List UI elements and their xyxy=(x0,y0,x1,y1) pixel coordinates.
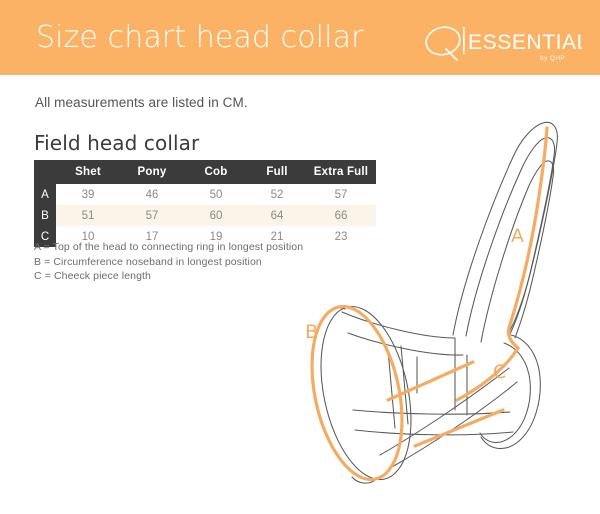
halter-outline xyxy=(298,122,558,487)
dimension-label-a: A xyxy=(511,225,524,247)
column-header-cob: Cob xyxy=(184,160,248,184)
cell-b-cob: 60 xyxy=(184,205,248,226)
column-header-shet: Shet xyxy=(56,160,120,184)
column-header-pony: Pony xyxy=(120,160,184,184)
page-title: Size chart head collar xyxy=(36,20,364,55)
cell-a-shet: 39 xyxy=(56,184,120,205)
footnote-a: A = Top of the head to connecting ring i… xyxy=(34,240,303,255)
row-label-b: B xyxy=(34,205,56,226)
header-banner: Size chart head collar ESSENTIALS by QHP xyxy=(0,0,600,75)
cell-b-shet: 51 xyxy=(56,205,120,226)
table-corner-cell xyxy=(34,160,56,184)
logo-q-icon xyxy=(423,24,463,60)
size-chart-page: Size chart head collar ESSENTIALS by QHP… xyxy=(0,0,600,514)
dimension-label-c: C xyxy=(493,361,506,383)
logo-tagline: by QHP xyxy=(540,55,565,62)
footnotes: A = Top of the head to connecting ring i… xyxy=(34,240,303,284)
section-title: Field head collar xyxy=(34,131,199,155)
logo-divider xyxy=(463,27,465,54)
measurement-note: All measurements are listed in CM. xyxy=(35,95,248,110)
dimension-label-b: B xyxy=(305,321,318,343)
footnote-b: B = Circumference noseband in longest po… xyxy=(34,255,303,270)
cell-a-pony: 46 xyxy=(120,184,184,205)
brand-logo: ESSENTIALS by QHP xyxy=(422,22,582,66)
cell-b-pony: 57 xyxy=(120,205,184,226)
row-label-a: A xyxy=(34,184,56,205)
measure-line-c xyxy=(415,410,503,446)
head-collar-illustration: A B C xyxy=(295,110,595,500)
footnote-c: C = Cheeck piece length xyxy=(34,269,303,284)
logo-wordmark: ESSENTIALS xyxy=(468,31,582,54)
cell-a-cob: 50 xyxy=(184,184,248,205)
